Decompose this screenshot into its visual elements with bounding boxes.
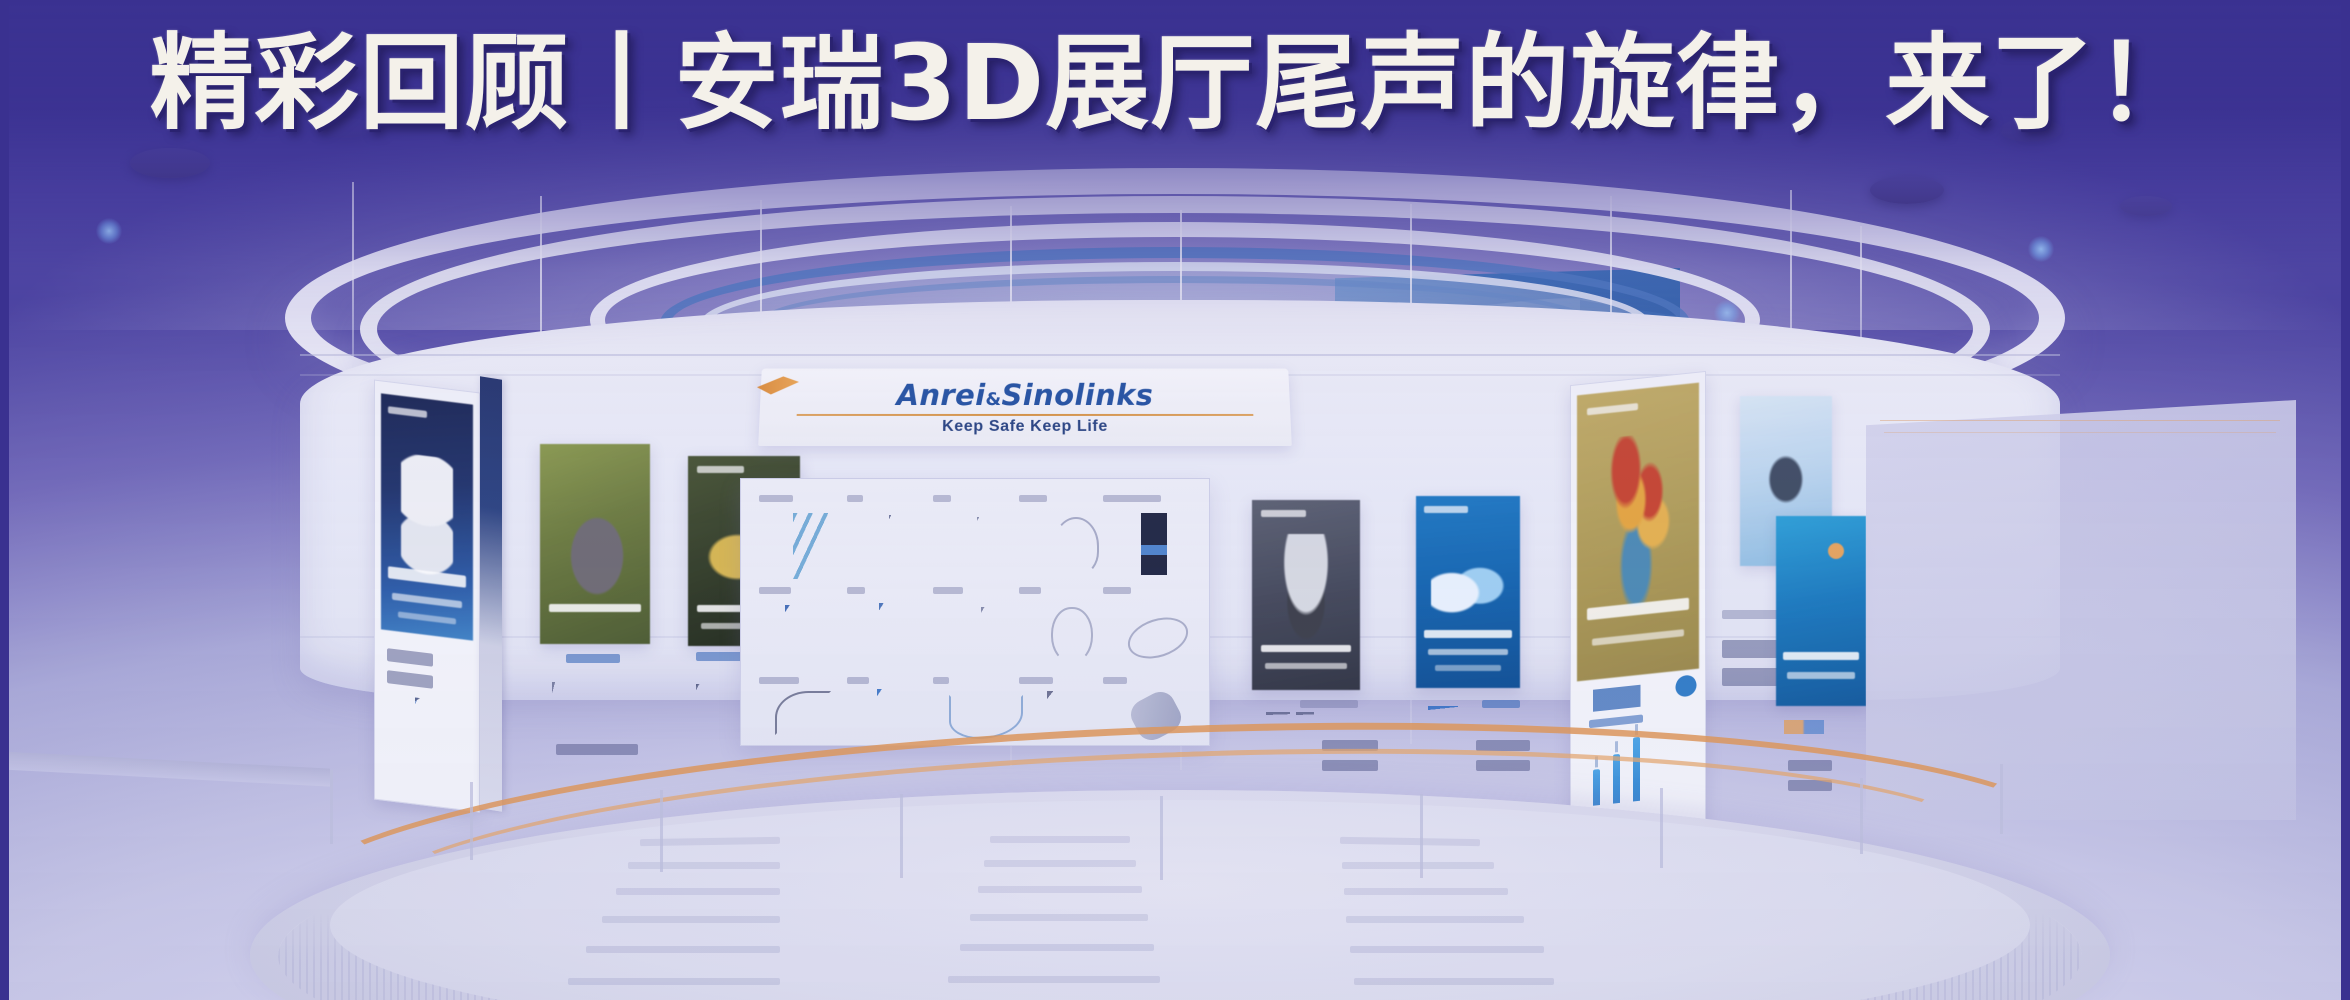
product-stent-ring [1123,610,1194,665]
poster-caption-puffer [1482,700,1520,708]
ceiling-light-fixture [2120,196,2172,216]
poster-title-bar [549,604,641,612]
rail-post [1160,796,1163,880]
product-guidewire [889,515,929,577]
poster-subtitle-bar [392,593,462,609]
logo-swoosh-icon [757,376,800,396]
poster-honey-badger[interactable] [1252,500,1360,690]
page-title: 精彩回顾丨安瑞3D展厅尾声的旋律，来了！ [0,28,2350,138]
right-wall-surface [1866,400,2296,820]
poster-subtitle-bar [1265,663,1347,669]
product-blue-shaft [877,689,927,739]
product-label [1019,495,1047,502]
exhibition-hall-scene: Anrei&Sinolinks Keep Safe Keep Life 精彩回顾… [0,0,2350,1000]
ceiling-light-fixture [1870,176,1944,204]
poster-brandmark [1587,403,1638,415]
right-edge-strip [2341,0,2350,1000]
poster-subtitle-bar [1428,649,1507,655]
left-edge-strip [0,0,9,1000]
right-panel-badge [1784,720,1824,734]
poster-kangaroo[interactable] [540,444,650,644]
poster-caption-kangaroo [566,654,620,663]
honey-badger-face [1271,534,1340,644]
poster-ocean[interactable] [1776,516,1866,706]
product-dilator [879,603,937,667]
sinolinks-badge-icon [1675,673,1697,705]
product-stent-pusher [981,607,1015,665]
rail-post [330,770,333,844]
product-label [933,495,951,502]
bee-eater-birds-illustration [1597,430,1682,611]
product-label [1103,587,1131,594]
product-label [847,495,863,502]
poster-caption-bar [1435,665,1502,671]
panda-illustration [401,452,453,581]
rail-post [660,790,663,872]
ring-glow-light [96,218,122,244]
product-label [1103,677,1127,684]
product-snare-loop [1053,517,1099,575]
rail-post [900,794,903,878]
ring-glow-light [2028,236,2054,262]
brand-primary: Anrei [896,378,985,412]
wall-trim-line [300,354,2060,356]
rail-post [470,782,473,860]
rail-post [1860,778,1863,854]
product-label [1019,677,1053,684]
product-basket [1051,607,1093,663]
poster-caption-badger [1300,700,1358,708]
rail-post [1420,794,1423,878]
rail-post [2000,764,2003,834]
panel-caption-line [387,648,433,667]
poster-panda [381,393,473,640]
poster-brandmark [697,466,744,473]
ocean-sun-icon [1828,543,1844,559]
poster-subtitle-bar [1592,629,1685,646]
product-label [759,587,791,594]
logo-underline [797,414,1254,416]
product-valve-connector [1141,513,1167,575]
poster-caption-bar [398,611,457,624]
product-label [933,677,949,684]
product-label [847,587,865,594]
product-needle [977,517,1011,575]
product-label [933,587,963,594]
booth-logo-sign: Anrei&Sinolinks Keep Safe Keep Life [758,369,1292,446]
product-label [847,677,869,684]
poster-title-bar [1783,652,1859,660]
booth-tagline: Keep Safe Keep Life [942,418,1108,436]
right-wall-trim [1884,432,2276,433]
poster-title-bar [1261,645,1352,652]
poster-brandmark [388,406,427,418]
sinolinks-sublogo [1593,680,1681,711]
product-label [1103,495,1161,502]
poster-title-bar [1424,630,1511,638]
display-panel-panda[interactable] [374,379,480,812]
rail-post [1660,788,1663,868]
puffer-fish-illustration [1431,554,1506,623]
product-looped-wire [949,695,1023,739]
sea-bird-illustration [1757,440,1818,522]
product-curved-catheter [775,691,831,735]
kangaroo-silhouette [569,508,631,604]
booth-brand-name: Anrei&Sinolinks [896,378,1153,412]
panel-side-edge [480,376,502,811]
brand-secondary: Sinolinks [1001,378,1153,412]
poster-subtitle-bar [1787,672,1855,679]
brand-amp: & [985,389,1001,410]
product-label [1019,587,1041,594]
poster-brandmark [1261,510,1306,517]
poster-brandmark [1424,506,1468,513]
poster-bee-eater [1577,383,1699,682]
panel-caption-line [556,744,638,755]
device-illustration-kangaroo [552,682,618,718]
product-display-wall[interactable] [740,478,1210,746]
device-illustration [415,698,469,801]
panel-caption-line [387,670,433,689]
right-wall-trim [1880,420,2280,421]
product-biopsy-forceps [785,605,851,667]
poster-puffer-fish[interactable] [1416,496,1520,688]
product-label [759,677,799,684]
product-label [759,495,793,502]
ceiling-spoke [352,182,354,392]
product-catheter-set [793,513,845,579]
ceiling-light-fixture [130,148,210,178]
